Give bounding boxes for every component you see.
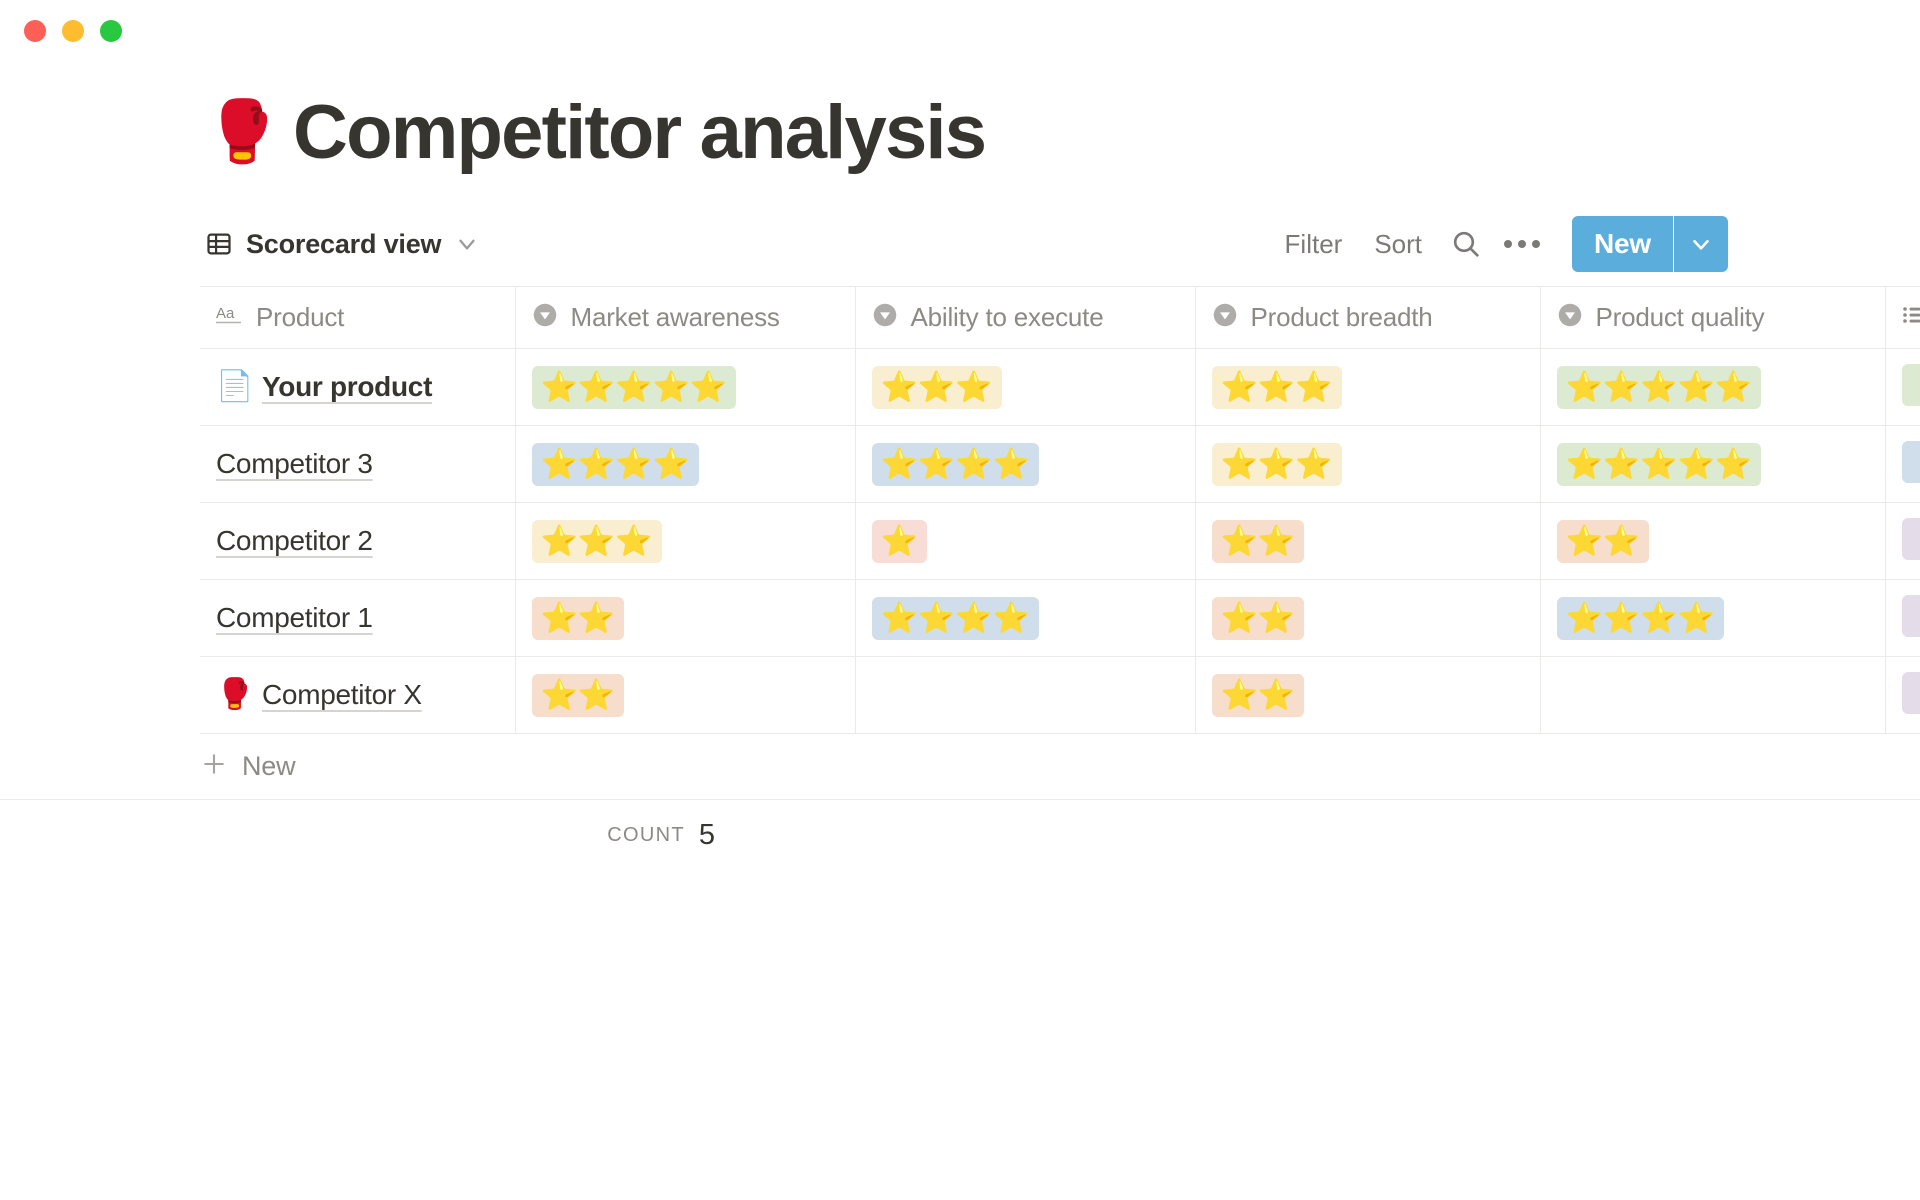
tag-pill [1902, 672, 1920, 714]
cell-product[interactable]: Competitor 1 [200, 580, 515, 657]
ellipsis-icon[interactable] [1494, 218, 1550, 270]
add-new-row-button[interactable]: New [0, 734, 1920, 800]
table-row[interactable]: Competitor 1⭐⭐⭐⭐⭐⭐⭐⭐⭐⭐⭐⭐ [200, 580, 1920, 657]
select-type-icon [1557, 302, 1583, 333]
table-row[interactable]: Competitor 2⭐⭐⭐⭐⭐⭐⭐⭐ [200, 503, 1920, 580]
column-header-label: Product [256, 302, 344, 333]
page-title: Competitor analysis [293, 89, 985, 176]
rating-pill: ⭐ [872, 520, 927, 563]
rating-pill: ⭐⭐⭐⭐ [872, 443, 1039, 486]
column-header-ability-to-execute[interactable]: Ability to execute [855, 287, 1195, 349]
rating-pill: ⭐⭐ [1212, 520, 1305, 563]
table-footer[interactable]: Count 5 [200, 800, 715, 870]
rating-pill: ⭐⭐⭐ [1212, 366, 1342, 409]
minimize-window-button[interactable] [62, 20, 84, 42]
column-header-market-awareness[interactable]: Market awareness [515, 287, 855, 349]
boxing-glove-icon[interactable]: 🥊 [205, 102, 271, 162]
window-titlebar [0, 0, 1920, 62]
rating-pill: ⭐⭐⭐ [532, 520, 662, 563]
cell-market-awareness[interactable]: ⭐⭐⭐⭐⭐ [515, 349, 855, 426]
column-header-product-quality[interactable]: Product quality [1540, 287, 1885, 349]
table-row[interactable]: Competitor 3⭐⭐⭐⭐⭐⭐⭐⭐⭐⭐⭐⭐⭐⭐⭐⭐ [200, 426, 1920, 503]
table-header-row: Aa Product [200, 287, 1920, 349]
cell-market-awareness[interactable]: ⭐⭐ [515, 657, 855, 734]
rating-pill: ⭐⭐⭐⭐⭐ [532, 366, 737, 409]
column-header-label: Product breadth [1251, 302, 1433, 333]
database-table-wrapper: Aa Product [0, 286, 1920, 734]
close-window-button[interactable] [24, 20, 46, 42]
cell-overflow[interactable] [1885, 426, 1920, 503]
maximize-window-button[interactable] [100, 20, 122, 42]
count-value: 5 [699, 819, 715, 852]
cell-overflow[interactable] [1885, 349, 1920, 426]
database-table: Aa Product [200, 286, 1920, 734]
view-toolbar: Scorecard view Filter Sort [0, 202, 1920, 286]
add-new-row-label: New [242, 751, 295, 782]
cell-product[interactable]: Competitor 3 [200, 426, 515, 503]
new-button-dropdown-chevron-down-icon[interactable] [1674, 216, 1728, 272]
tag-pill [1902, 441, 1920, 483]
tag-pill [1902, 364, 1920, 406]
rating-pill: ⭐⭐ [1212, 597, 1305, 640]
rating-pill: ⭐⭐⭐⭐⭐ [1557, 366, 1762, 409]
cell-ability-to-execute[interactable]: ⭐⭐⭐ [855, 349, 1195, 426]
tag-pill [1902, 595, 1920, 637]
rating-pill: ⭐⭐ [532, 597, 625, 640]
cell-product-quality[interactable]: ⭐⭐⭐⭐⭐ [1540, 349, 1885, 426]
cell-product-breadth[interactable]: ⭐⭐⭐ [1195, 349, 1540, 426]
rating-pill: ⭐⭐⭐⭐ [532, 443, 699, 486]
table-body: 📄Your product⭐⭐⭐⭐⭐⭐⭐⭐⭐⭐⭐⭐⭐⭐⭐⭐Competitor … [200, 349, 1920, 734]
cell-ability-to-execute[interactable]: ⭐ [855, 503, 1195, 580]
page-icon: 📄 [216, 372, 250, 402]
column-header-overflow[interactable] [1885, 287, 1920, 349]
row-title[interactable]: Your product [262, 371, 432, 403]
table-row[interactable]: 📄Your product⭐⭐⭐⭐⭐⭐⭐⭐⭐⭐⭐⭐⭐⭐⭐⭐ [200, 349, 1920, 426]
sort-button[interactable]: Sort [1358, 221, 1438, 268]
filter-button[interactable]: Filter [1269, 221, 1359, 268]
table-row[interactable]: 🥊Competitor X⭐⭐⭐⭐ [200, 657, 1920, 734]
chevron-down-icon[interactable] [454, 231, 480, 257]
cell-overflow[interactable] [1885, 503, 1920, 580]
select-type-icon [1212, 302, 1238, 333]
table-icon [205, 230, 233, 258]
new-button-group: New [1572, 216, 1728, 272]
cell-product[interactable]: 🥊Competitor X [200, 657, 515, 734]
cell-product-breadth[interactable]: ⭐⭐⭐ [1195, 426, 1540, 503]
cell-market-awareness[interactable]: ⭐⭐⭐ [515, 503, 855, 580]
cell-market-awareness[interactable]: ⭐⭐ [515, 580, 855, 657]
rating-pill: ⭐⭐ [532, 674, 625, 717]
cell-product-quality[interactable]: ⭐⭐⭐⭐⭐ [1540, 426, 1885, 503]
tag-pill [1902, 518, 1920, 560]
cell-ability-to-execute[interactable]: ⭐⭐⭐⭐ [855, 426, 1195, 503]
row-title[interactable]: Competitor 3 [216, 448, 373, 480]
page-content: 🥊 Competitor analysis Scorecard view [0, 62, 1920, 870]
svg-text:Aa: Aa [216, 305, 235, 322]
rating-pill: ⭐⭐ [1557, 520, 1650, 563]
tab-scorecard-view[interactable]: Scorecard view [205, 229, 480, 260]
column-header-product-breadth[interactable]: Product breadth [1195, 287, 1540, 349]
rating-pill: ⭐⭐⭐ [1212, 443, 1342, 486]
row-title[interactable]: Competitor 2 [216, 525, 373, 557]
cell-ability-to-execute[interactable]: ⭐⭐⭐⭐ [855, 580, 1195, 657]
new-button[interactable]: New [1572, 216, 1673, 272]
column-header-product[interactable]: Aa Product [200, 287, 515, 349]
toolbar-actions: Filter Sort New [1269, 216, 1728, 272]
cell-product[interactable]: 📄Your product [200, 349, 515, 426]
boxing-glove-icon: 🥊 [216, 680, 250, 710]
column-header-label: Ability to execute [911, 302, 1104, 333]
text-type-icon: Aa [216, 304, 243, 331]
rating-pill: ⭐⭐ [1212, 674, 1305, 717]
count-label: Count [607, 824, 685, 847]
cell-product-breadth[interactable]: ⭐⭐ [1195, 503, 1540, 580]
cell-product-breadth[interactable]: ⭐⭐ [1195, 657, 1540, 734]
cell-overflow[interactable] [1885, 657, 1920, 734]
cell-market-awareness[interactable]: ⭐⭐⭐⭐ [515, 426, 855, 503]
ellipsis-dots [1504, 240, 1540, 248]
row-title[interactable]: Competitor 1 [216, 602, 373, 634]
row-title[interactable]: Competitor X [262, 679, 422, 711]
rating-pill: ⭐⭐⭐ [872, 366, 1002, 409]
rating-pill: ⭐⭐⭐⭐⭐ [1557, 443, 1762, 486]
search-icon[interactable] [1438, 218, 1494, 270]
column-header-label: Product quality [1596, 302, 1765, 333]
list-dots-icon [1902, 304, 1920, 331]
cell-product-quality[interactable] [1540, 657, 1885, 734]
select-type-icon [872, 302, 898, 333]
cell-overflow[interactable] [1885, 580, 1920, 657]
select-type-icon [532, 302, 558, 333]
cell-product-breadth[interactable]: ⭐⭐ [1195, 580, 1540, 657]
cell-ability-to-execute[interactable] [855, 657, 1195, 734]
rating-pill: ⭐⭐⭐⭐ [872, 597, 1039, 640]
column-header-label: Market awareness [571, 302, 780, 333]
rating-pill: ⭐⭐⭐⭐ [1557, 597, 1724, 640]
plus-icon [200, 750, 228, 783]
cell-product[interactable]: Competitor 2 [200, 503, 515, 580]
cell-product-quality[interactable]: ⭐⭐⭐⭐ [1540, 580, 1885, 657]
view-name-label: Scorecard view [246, 229, 441, 260]
cell-product-quality[interactable]: ⭐⭐ [1540, 503, 1885, 580]
table-header: Aa Product [200, 287, 1920, 349]
page-header: 🥊 Competitor analysis [0, 62, 1920, 202]
